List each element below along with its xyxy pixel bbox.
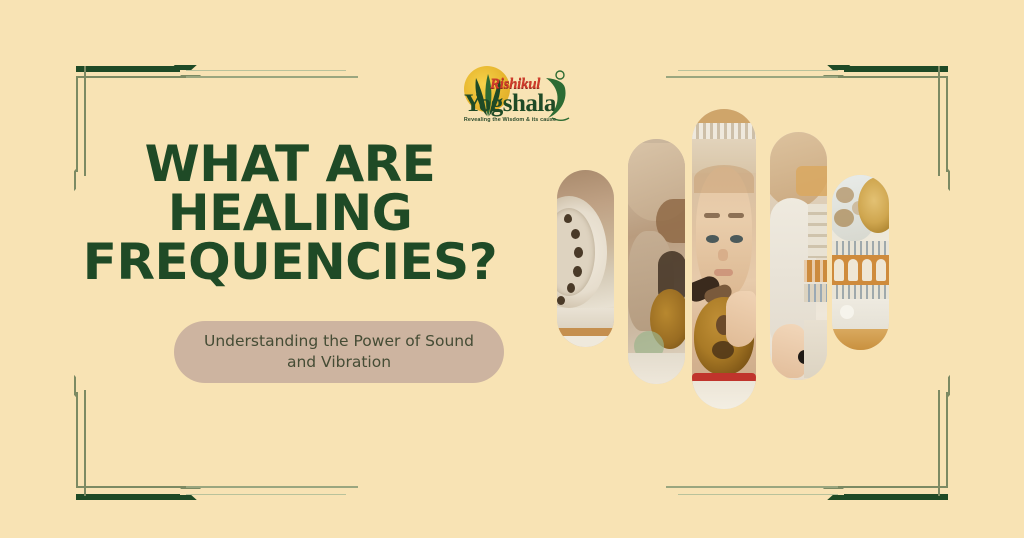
frame-bar-thin (76, 76, 186, 78)
subtitle-pill: Understanding the Power of Sound and Vib… (174, 321, 504, 383)
frame-bar-thick (844, 494, 948, 500)
frame-bar-thick (844, 66, 948, 72)
frame-bar-vertical-diagonal (948, 169, 950, 191)
frame-rail-top-left-2 (186, 70, 346, 71)
frame-bar-thick (76, 66, 180, 72)
frame-rail-bottom-left (186, 486, 358, 488)
frame-bar-thin (838, 76, 948, 78)
page-title-line-2: HEALING (60, 189, 520, 238)
panel-woman-with-bowl (692, 109, 756, 409)
subtitle-text: Understanding the Power of Sound and Vib… (194, 331, 484, 373)
frame-bar-diagonal (827, 495, 855, 500)
corner-frame-bottom-left (76, 390, 226, 500)
subtitle-line-2: and Vibration (287, 353, 391, 371)
frame-bar-thin (76, 486, 186, 488)
frame-bar-vertical-thin-2 (938, 66, 940, 176)
frame-bar-thin (838, 486, 948, 488)
frame-bar-vertical-thin-2 (938, 390, 940, 496)
frame-bar-vertical-thin (946, 392, 948, 488)
frame-bar-vertical-thin (946, 76, 948, 172)
frame-bar-vertical-thin-2 (84, 390, 86, 496)
frame-bar-thick (76, 494, 180, 500)
page-title-line-3: FREQUENCIES? (60, 238, 520, 287)
frame-bar-diagonal (169, 495, 197, 500)
frame-bar-vertical-thin (76, 392, 78, 488)
healing-frequencies-banner: Rishikul Yogshala Revealing the Wisdom &… (0, 0, 1024, 538)
frame-rail-bottom-right (666, 486, 838, 488)
panel-brass-bowl-textile (832, 175, 889, 350)
page-title: WHAT ARE HEALING FREQUENCIES? (60, 140, 520, 287)
page-title-line-1: WHAT ARE (60, 140, 520, 189)
panel-singing-bowl-carved (557, 170, 614, 347)
frame-rail-bottom-right-2 (678, 494, 838, 495)
image-collage (545, 95, 910, 425)
frame-bar-vertical-diagonal (948, 375, 950, 397)
frame-rail-top-right-2 (678, 70, 838, 71)
frame-rail-bottom-left-2 (186, 494, 346, 495)
frame-rail-top-right (666, 76, 838, 78)
panel-cushion-right (770, 132, 827, 380)
frame-bar-vertical-diagonal (74, 375, 76, 397)
frame-rail-top-left (186, 76, 358, 78)
subtitle-line-1: Understanding the Power of Sound (204, 332, 474, 350)
panel-cushion-left (628, 139, 685, 384)
